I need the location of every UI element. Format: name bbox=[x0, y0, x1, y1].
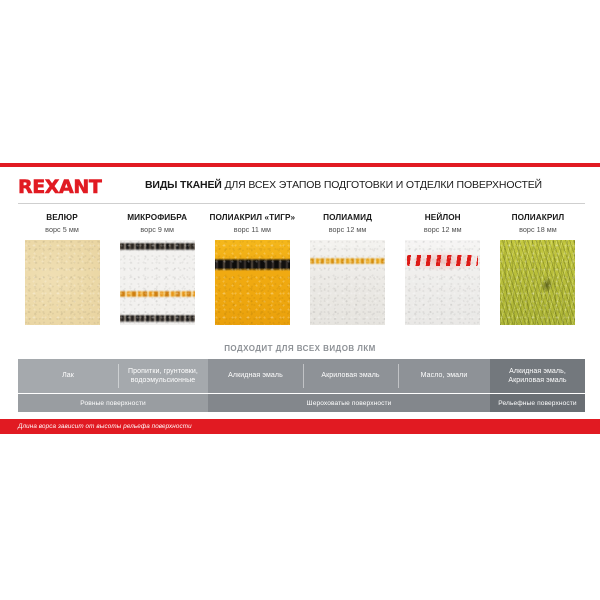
paint-cell-alkyd-acrylic: Алкидная эмаль, Акриловая эмаль bbox=[490, 359, 585, 393]
sample-name: ВЕЛЮР bbox=[46, 213, 78, 222]
paint-cell-impregnations: Пропитки, грунтовки, водоэмульсионные bbox=[118, 359, 208, 393]
sample-pile: ворс 5 мм bbox=[45, 225, 79, 234]
paint-cell-oil: Масло, эмали bbox=[398, 359, 490, 393]
surface-cell-flat: Ровные поверхности bbox=[18, 394, 208, 412]
footnote-text: Длина ворса зависит от высоты рельефа по… bbox=[18, 423, 192, 430]
headline: ВИДЫ ТКАНЕЙ ДЛЯ ВСЕХ ЭТАПОВ ПОДГОТОВКИ И… bbox=[145, 178, 590, 192]
sample-velour: ВЕЛЮР ворс 5 мм bbox=[18, 213, 106, 341]
footnote-bar: Длина ворса зависит от высоты рельефа по… bbox=[0, 419, 600, 434]
sample-polyamide: ПОЛИАМИД ворс 12 мм bbox=[304, 213, 392, 341]
swatch-microfiber bbox=[120, 240, 195, 325]
sample-pile: ворс 18 мм bbox=[519, 225, 557, 234]
fabric-types-infographic: REXANT ВИДЫ ТКАНЕЙ ДЛЯ ВСЕХ ЭТАПОВ ПОДГО… bbox=[0, 163, 600, 441]
sample-pile: ворс 9 мм bbox=[140, 225, 174, 234]
lkm-caption: ПОДХОДИТ ДЛЯ ВСЕХ ВИДОВ ЛКМ bbox=[0, 344, 600, 353]
headline-bold: ВИДЫ ТКАНЕЙ bbox=[145, 179, 222, 191]
sample-name: ПОЛИАМИД bbox=[323, 213, 372, 222]
paint-cell-acrylic: Акриловая эмаль bbox=[303, 359, 398, 393]
surface-cell-relief: Рельефные поверхности bbox=[490, 394, 585, 412]
paint-cell-alkyd: Алкидная эмаль bbox=[208, 359, 303, 393]
headline-rest: ДЛЯ ВСЕХ ЭТАПОВ ПОДГОТОВКИ И ОТДЕЛКИ ПОВ… bbox=[222, 179, 542, 191]
compatibility-matrix: Лак Пропитки, грунтовки, водоэмульсионны… bbox=[18, 359, 585, 414]
swatch-velour bbox=[25, 240, 100, 325]
sample-pile: ворс 11 мм bbox=[234, 225, 271, 234]
sample-pile: ворс 12 мм bbox=[424, 225, 462, 234]
sample-pile: ворс 12 мм bbox=[329, 225, 367, 234]
sample-polyacryl: ПОЛИАКРИЛ ворс 18 мм bbox=[494, 213, 582, 341]
surface-cell-rough: Шероховатые поверхности bbox=[208, 394, 490, 412]
sample-nylon: НЕЙЛОН ворс 12 мм bbox=[399, 213, 487, 341]
swatch-polyacryl bbox=[500, 240, 575, 325]
header-divider bbox=[18, 203, 585, 204]
sample-polyacryl-tiger: ПОЛИАКРИЛ «ТИГР» ворс 11 мм bbox=[208, 213, 296, 341]
sample-name: ПОЛИАКРИЛ «ТИГР» bbox=[210, 213, 296, 222]
surface-type-row: Ровные поверхности Шероховатые поверхнос… bbox=[18, 394, 585, 412]
swatch-nylon bbox=[405, 240, 480, 325]
fabric-sample-row: ВЕЛЮР ворс 5 мм МИКРОФИБРА ворс 9 мм ПОЛ… bbox=[0, 213, 600, 341]
infographic-header: REXANT ВИДЫ ТКАНЕЙ ДЛЯ ВСЕХ ЭТАПОВ ПОДГО… bbox=[0, 171, 600, 203]
rexant-logo: REXANT bbox=[18, 176, 101, 198]
top-red-rule bbox=[0, 163, 600, 167]
sample-name: МИКРОФИБРА bbox=[127, 213, 187, 222]
paint-cell-lak: Лак bbox=[18, 359, 118, 393]
swatch-polyacryl-tiger bbox=[215, 240, 290, 325]
paint-type-row: Лак Пропитки, грунтовки, водоэмульсионны… bbox=[18, 359, 585, 393]
sample-name: ПОЛИАКРИЛ bbox=[512, 213, 565, 222]
sample-microfiber: МИКРОФИБРА ворс 9 мм bbox=[113, 213, 201, 341]
swatch-polyamide bbox=[310, 240, 385, 325]
sample-name: НЕЙЛОН bbox=[425, 213, 461, 222]
